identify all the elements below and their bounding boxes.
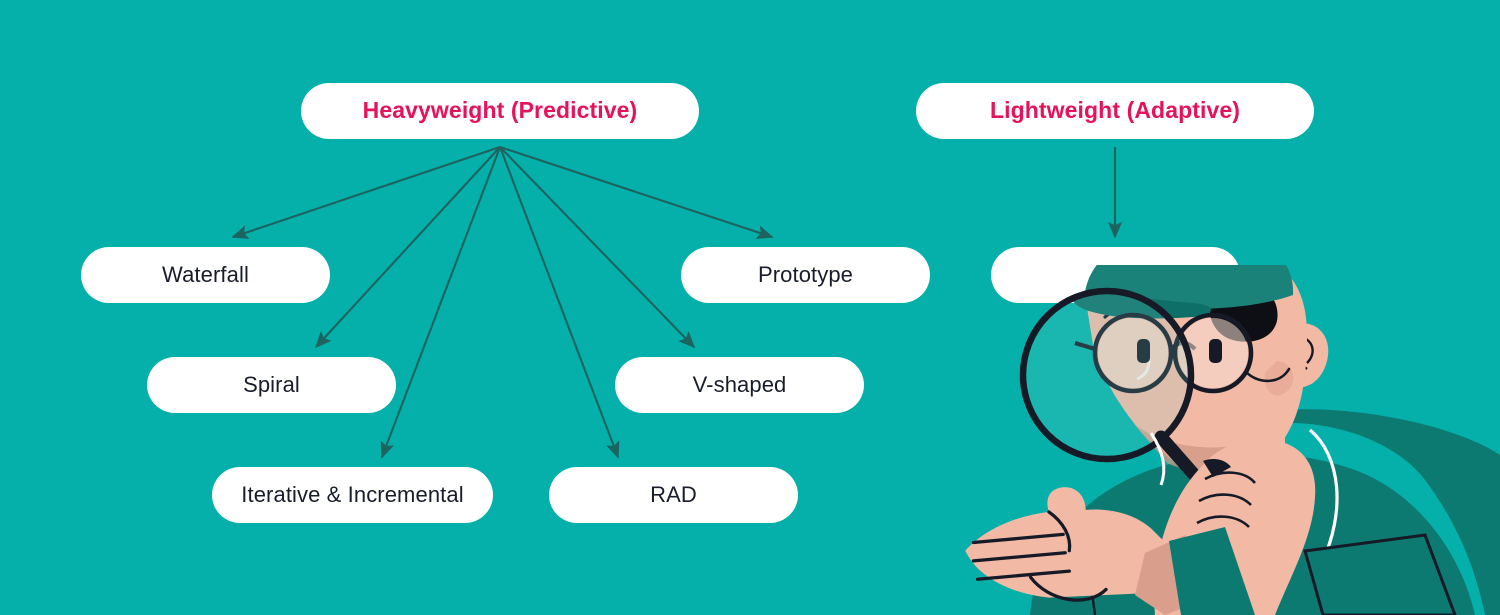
node-v-shaped-label: V-shaped [693, 373, 787, 397]
node-prototype[interactable]: Prototype [681, 247, 930, 303]
node-waterfall[interactable]: Waterfall [81, 247, 330, 303]
node-lightweight-header[interactable]: Lightweight (Adaptive) [916, 83, 1314, 139]
node-prototype-label: Prototype [758, 263, 853, 287]
shirt [1030, 409, 1500, 615]
node-agile-label: Agile [1091, 263, 1140, 287]
node-iterative-incremental-label: Iterative & Incremental [241, 483, 463, 507]
node-rad-label: RAD [650, 483, 697, 507]
clipboard [1305, 535, 1455, 615]
node-lightweight-label: Lightweight (Adaptive) [990, 98, 1240, 123]
ear [1289, 323, 1328, 387]
node-v-shaped[interactable]: V-shaped [615, 357, 864, 413]
connector-heavyweight-vshaped [500, 147, 694, 347]
neck [1205, 415, 1285, 491]
connector-heavyweight-waterfall [233, 147, 500, 237]
node-spiral-label: Spiral [243, 373, 300, 397]
connector-heavyweight-spiral [316, 147, 500, 347]
connector-heavyweight-prototype [500, 147, 772, 237]
node-rad[interactable]: RAD [549, 467, 798, 523]
magnifying-glass-icon [1023, 291, 1205, 487]
glasses-icon [1075, 315, 1251, 391]
open-hand [965, 487, 1255, 615]
node-waterfall-label: Waterfall [162, 263, 249, 287]
node-heavyweight-header[interactable]: Heavyweight (Predictive) [301, 83, 699, 139]
connector-heavyweight-rad [500, 147, 618, 457]
node-iterative-incremental[interactable]: Iterative & Incremental [212, 467, 493, 523]
node-agile[interactable]: Agile [991, 247, 1240, 303]
node-heavyweight-label: Heavyweight (Predictive) [363, 98, 638, 123]
node-spiral[interactable]: Spiral [147, 357, 396, 413]
diagram-canvas: Heavyweight (Predictive) Lightweight (Ad… [0, 0, 1500, 615]
hand-holding-magnifier [1154, 439, 1315, 615]
man-with-magnifying-glass-illustration [955, 265, 1500, 615]
connector-heavyweight-iterative [382, 147, 500, 457]
